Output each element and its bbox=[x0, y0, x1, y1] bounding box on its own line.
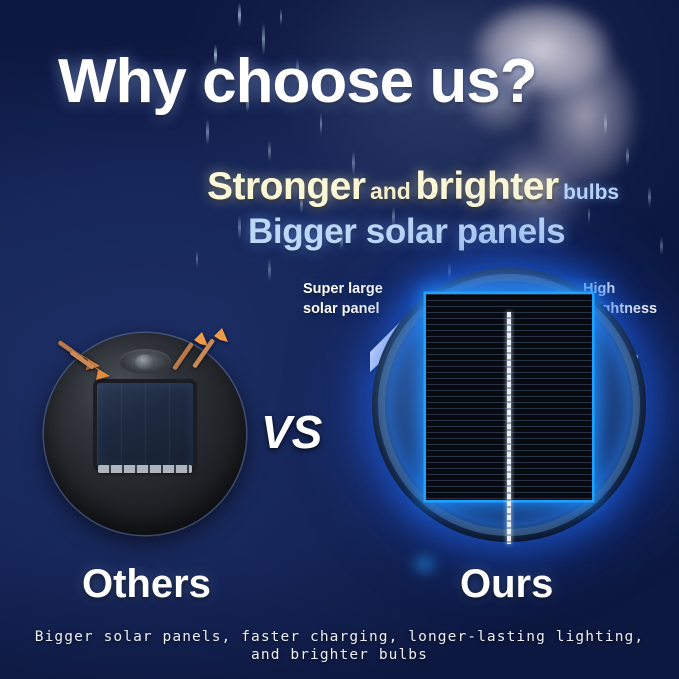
callout-left-line-2: solar panel bbox=[303, 300, 383, 320]
label-ours: Ours bbox=[460, 562, 553, 607]
others-lens bbox=[119, 349, 171, 374]
headline-word-brighter: brighter bbox=[415, 165, 558, 208]
page-title: Why choose us? bbox=[58, 46, 537, 117]
caption-line-2: and brighter bulbs bbox=[0, 646, 679, 664]
label-others: Others bbox=[82, 562, 211, 607]
ours-busbar bbox=[507, 312, 511, 544]
caption-line-1: Bigger solar panels, faster charging, lo… bbox=[0, 628, 679, 646]
headline-line-one: Stronger and brighter bulbs bbox=[207, 165, 619, 209]
product-ours-disc bbox=[372, 268, 646, 542]
bottom-caption: Bigger solar panels, faster charging, lo… bbox=[0, 628, 679, 664]
headline-word-bulbs: bulbs bbox=[563, 181, 619, 204]
others-led-strip bbox=[98, 465, 192, 473]
callout-super-large-solar-panel: Super large solar panel bbox=[303, 280, 383, 319]
product-others-disc bbox=[44, 333, 246, 535]
headline-line-two: Bigger solar panels bbox=[248, 212, 565, 252]
headline-word-stronger: Stronger bbox=[207, 165, 366, 208]
callout-left-line-1: Super large bbox=[303, 280, 383, 300]
ours-solar-panel bbox=[426, 294, 592, 500]
headline-word-and: and bbox=[370, 178, 411, 204]
marketing-banner: Why choose us? Stronger and brighter bul… bbox=[0, 0, 679, 679]
callout-right-line-1: High bbox=[583, 280, 657, 300]
others-solar-panel bbox=[97, 383, 193, 467]
versus-label: VS bbox=[261, 405, 322, 459]
